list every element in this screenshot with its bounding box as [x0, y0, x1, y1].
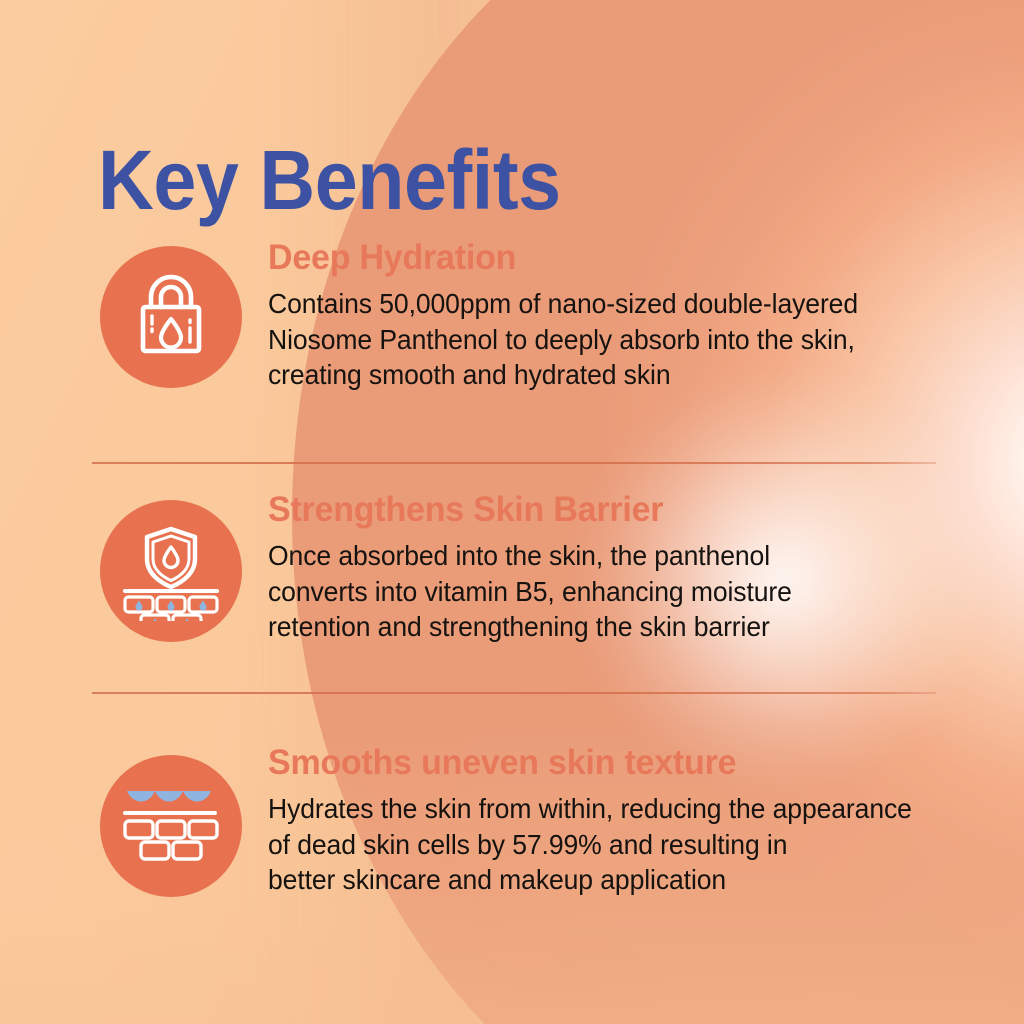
benefit-heading-1: Deep Hydration	[268, 240, 928, 277]
benefit-text-2: Strengthens Skin Barrier Once absorbed i…	[268, 492, 948, 645]
benefit-body-line: creating smooth and hydrated skin	[268, 357, 924, 393]
benefit-text-1: Deep Hydration Contains 50,000ppm of nan…	[268, 240, 948, 393]
benefit-body-line: Once absorbed into the skin, the panthen…	[268, 538, 924, 574]
section-divider-2	[92, 692, 936, 694]
section-divider-1	[92, 462, 936, 464]
benefit-body-3: Hydrates the skin from within, reducing …	[268, 791, 924, 898]
key-benefits-infographic: Key Benefits Deep Hydratio	[0, 0, 1024, 1024]
benefit-body-line: Hydrates the skin from within, reducing …	[268, 791, 924, 827]
benefit-body-line: retention and strengthening the skin bar…	[268, 609, 924, 645]
benefit-body-2: Once absorbed into the skin, the panthen…	[268, 538, 924, 645]
benefit-text-3: Smooths uneven skin texture Hydrates the…	[268, 745, 948, 898]
page-title: Key Benefits	[98, 138, 561, 222]
benefit-body-line: better skincare and makeup application	[268, 862, 924, 898]
benefit-body-line: Contains 50,000ppm of nano-sized double-…	[268, 286, 924, 322]
benefit-heading-3: Smooths uneven skin texture	[268, 745, 928, 782]
waves-bricks-icon	[100, 755, 242, 897]
benefit-body-line: converts into vitamin B5, enhancing mois…	[268, 574, 924, 610]
padlock-droplet-icon	[100, 246, 242, 388]
benefit-body-line: of dead skin cells by 57.99% and resulti…	[268, 827, 924, 863]
benefit-body-1: Contains 50,000ppm of nano-sized double-…	[268, 286, 924, 393]
benefit-heading-2: Strengthens Skin Barrier	[268, 492, 928, 529]
shield-droplet-bricks-icon	[100, 500, 242, 642]
benefit-body-line: Niosome Panthenol to deeply absorb into …	[268, 322, 924, 358]
